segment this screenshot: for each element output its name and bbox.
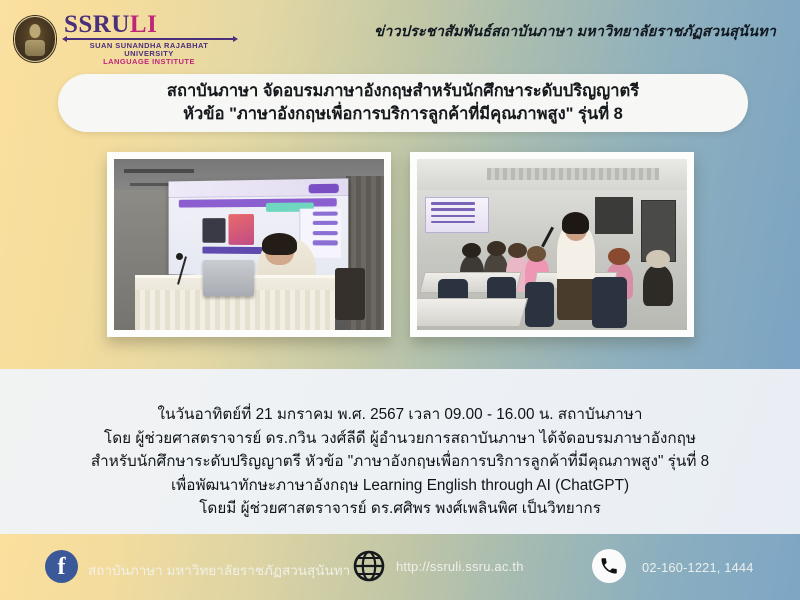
title-line-2: หัวข้อ "ภาษาอังกฤษเพื่อการบริการลูกค้าที… [183, 103, 623, 126]
wordmark-li: LI [130, 11, 157, 38]
body-line-2: โดย ผู้ช่วยศาสตราจารย์ ดร.กวิน วงศ์ลีดี … [0, 427, 800, 451]
logo-subtitle-university: SUAN SUNANDHA RAJABHAT UNIVERSITY [64, 42, 234, 57]
title-line-1: สถาบันภาษา จัดอบรมภาษาอังกฤษสำหรับนักศึก… [167, 80, 639, 103]
globe-icon[interactable] [352, 549, 386, 583]
body-description: ในวันอาทิตย์ที่ 21 มกราคม พ.ศ. 2567 เวลา… [0, 403, 800, 521]
footer-contact-bar: f สถาบันภาษา มหาวิทยาลัยราชภัฏสวนสุนันทา… [0, 534, 800, 600]
body-line-4: เพื่อพัฒนาทักษะภาษาอังกฤษ Learning Engli… [0, 474, 800, 498]
logo-divider-rule [66, 38, 234, 40]
logo-wordmark: SSRULI SUAN SUNANDHA RAJABHAT UNIVERSITY… [64, 12, 234, 66]
photo-gallery [0, 152, 800, 337]
photo-frame-left [107, 152, 391, 337]
body-line-5: โดยมี ผู้ช่วยศาสตราจารย์ ดร.ศศิพร พงศ์เพ… [0, 497, 800, 521]
university-seal-icon [14, 16, 56, 62]
header-caption: ข่าวประชาสัมพันธ์สถาบันภาษา มหาวิทยาลัยร… [374, 20, 776, 43]
poster-canvas: SSRULI SUAN SUNANDHA RAJABHAT UNIVERSITY… [0, 0, 800, 600]
title-banner: สถาบันภาษา จัดอบรมภาษาอังกฤษสำหรับนักศึก… [58, 74, 748, 132]
phone-number-label[interactable]: 02-160-1221, 1444 [642, 560, 754, 575]
facebook-icon[interactable]: f [45, 550, 78, 583]
body-line-3: สำหรับนักศึกษาระดับปริญญาตรี หัวข้อ "ภาษ… [0, 450, 800, 474]
photo-speaker-presentation [114, 159, 384, 330]
photo-frame-right [410, 152, 694, 337]
phone-icon[interactable] [592, 549, 626, 583]
photo-classroom-audience [417, 159, 687, 330]
wordmark-ssru: SSRU [64, 11, 130, 38]
facebook-page-label[interactable]: สถาบันภาษา มหาวิทยาลัยราชภัฏสวนสุนันทา [88, 559, 350, 581]
logo-subtitle-institute: LANGUAGE INSTITUTE [64, 58, 234, 66]
ssruli-logo: SSRULI SUAN SUNANDHA RAJABHAT UNIVERSITY… [14, 12, 234, 66]
body-line-1: ในวันอาทิตย์ที่ 21 มกราคม พ.ศ. 2567 เวลา… [0, 403, 800, 427]
website-url-label[interactable]: http://ssruli.ssru.ac.th [396, 559, 524, 574]
